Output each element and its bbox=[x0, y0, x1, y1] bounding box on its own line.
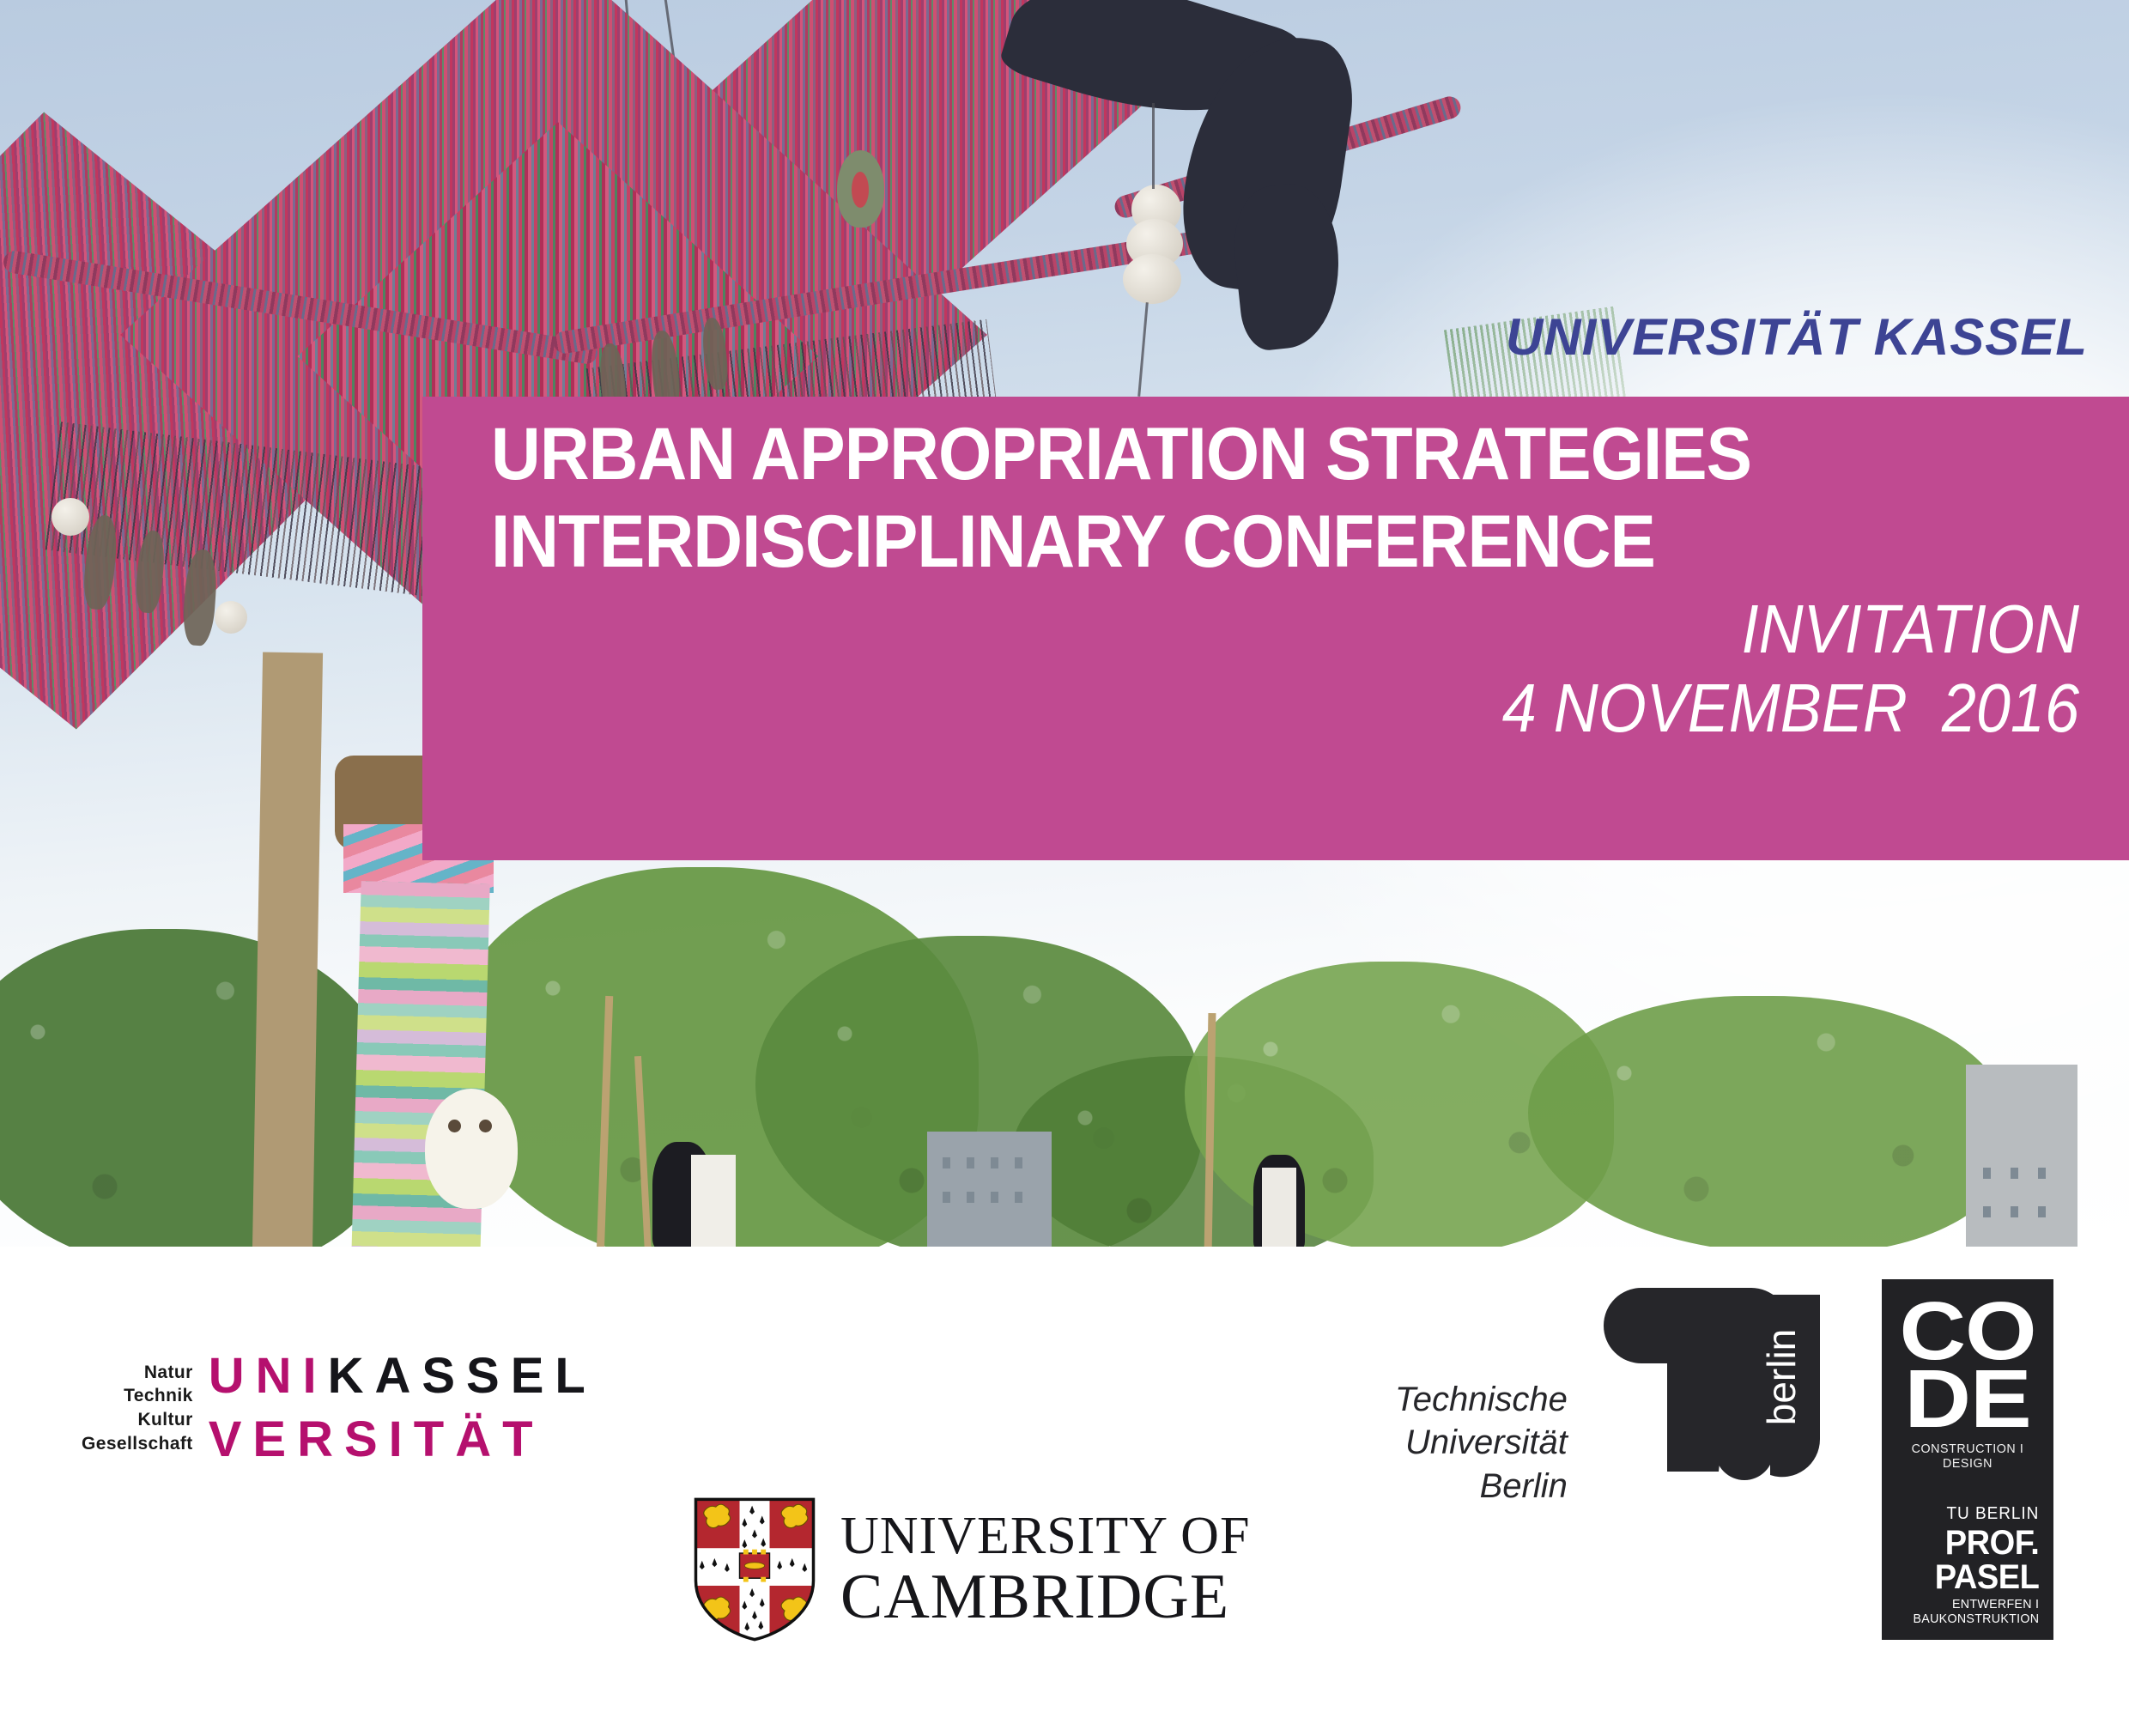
uk-uni: UNI bbox=[209, 1348, 328, 1404]
owl-eye bbox=[479, 1120, 492, 1132]
uk-tag-natur: Natur bbox=[144, 1361, 193, 1385]
wrapped-ball bbox=[215, 601, 247, 634]
cambridge-wordmark: UNIVERSITY OF CAMBRIDGE bbox=[840, 1511, 1250, 1629]
code-footer-line2: PROF. PASEL bbox=[1886, 1526, 2040, 1594]
uk-row-one: UNIKASSEL bbox=[209, 1351, 597, 1401]
title-banner: URBAN APPROPRIATION STRATEGIES INTERDISC… bbox=[422, 397, 2129, 860]
invitation-label: INVITATION bbox=[650, 593, 2079, 665]
tub-line2: Universität bbox=[1405, 1421, 1568, 1464]
uk-kassel: KASSEL bbox=[328, 1348, 597, 1404]
tree bbox=[1528, 996, 2009, 1247]
owl-eye bbox=[448, 1120, 461, 1132]
conference-title-line1: URBAN APPROPRIATION STRATEGIES bbox=[491, 417, 1968, 493]
background-building bbox=[1966, 1065, 2077, 1247]
logo-tu-berlin: Technische Universität Berlin berlin bbox=[1395, 1281, 1832, 1513]
uni-kassel-wordmark: UNIKASSEL VERSITÄT bbox=[209, 1351, 597, 1465]
universitaet-kassel-label: UNIVERSITÄT KASSEL bbox=[1506, 307, 2088, 367]
conference-invitation-poster: UNIVERSITÄT KASSEL URBAN APPROPRIATION S… bbox=[0, 0, 2129, 1736]
white-owl-figure bbox=[425, 1089, 518, 1209]
code-subtitle: CONSTRUCTION I DESIGN bbox=[1886, 1442, 2049, 1471]
white-flag bbox=[691, 1155, 736, 1247]
code-footer-line1: TU BERLIN bbox=[1886, 1504, 2040, 1524]
code-title-bottom: DE bbox=[1871, 1366, 2064, 1434]
code-footer-line3: ENTWERFEN I BAUKONSTRUKTION bbox=[1886, 1597, 2040, 1626]
tub-line3: Berlin bbox=[1480, 1465, 1568, 1508]
tree bbox=[0, 929, 395, 1247]
tu-berlin-wordmark: Technische Universität Berlin bbox=[1395, 1378, 1568, 1513]
logo-university-of-cambridge: UNIVERSITY OF CAMBRIDGE bbox=[691, 1496, 1250, 1643]
uni-kassel-tagwords: Natur Technik Kultur Gesellschaft bbox=[82, 1361, 209, 1456]
title-banner-content: URBAN APPROPRIATION STRATEGIES INTERDISC… bbox=[491, 417, 2079, 845]
wrapped-ball bbox=[52, 498, 89, 536]
cambridge-line2: CAMBRIDGE bbox=[840, 1567, 1250, 1628]
tub-line1: Technische bbox=[1395, 1378, 1568, 1421]
uk-versitaet: VERSITÄT bbox=[209, 1415, 597, 1465]
conference-title-line2: INTERDISCIPLINARY CONFERENCE bbox=[491, 505, 1968, 580]
cambridge-line1: UNIVERSITY OF bbox=[840, 1511, 1250, 1563]
tu-berlin-mark-text: berlin bbox=[1759, 1329, 1804, 1426]
uk-tag-kultur: Kultur bbox=[137, 1408, 192, 1432]
logo-uni-kassel: Natur Technik Kultur Gesellschaft UNIKAS… bbox=[82, 1351, 597, 1465]
white-flag bbox=[1262, 1168, 1296, 1247]
logo-strip: Natur Technik Kultur Gesellschaft UNIKAS… bbox=[0, 1247, 2129, 1736]
logo-code: CO DE CONSTRUCTION I DESIGN TU BERLIN PR… bbox=[1882, 1279, 2053, 1640]
code-footer: TU BERLIN PROF. PASEL ENTWERFEN I BAUKON… bbox=[1882, 1504, 2043, 1626]
uk-tag-technik: Technik bbox=[124, 1384, 193, 1408]
uk-tag-gesellschaft: Gesellschaft bbox=[82, 1432, 193, 1456]
tu-berlin-mark-icon: berlin bbox=[1574, 1281, 1832, 1513]
kite-amulet-core bbox=[852, 172, 869, 208]
cambridge-crest-icon bbox=[691, 1496, 818, 1643]
wooden-mast bbox=[252, 652, 323, 1247]
background-building bbox=[927, 1132, 1052, 1247]
conference-date: 4 NOVEMBER 2016 bbox=[650, 672, 2079, 744]
